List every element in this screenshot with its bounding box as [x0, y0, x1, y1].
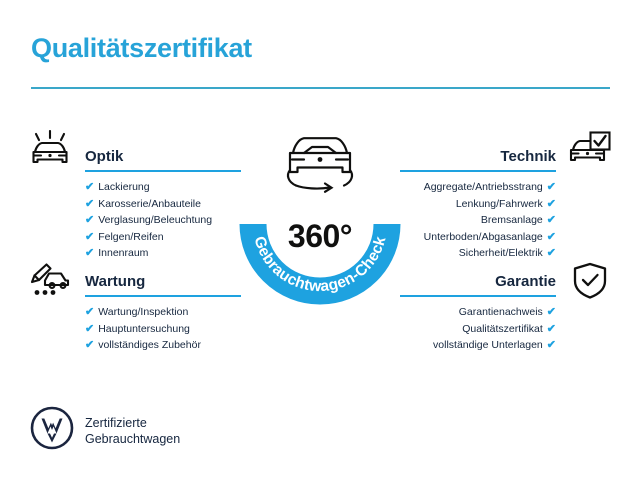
list-item: Garantienachweis✔ — [400, 304, 556, 321]
check-icon: ✔ — [547, 231, 556, 243]
check-icon: ✔ — [547, 181, 556, 193]
section-header-garantie: Garantie — [400, 268, 556, 298]
list-item: Sicherheit/Elektrik✔ — [400, 245, 556, 262]
list-item: ✔Innenraum — [85, 245, 241, 262]
list-item: Unterboden/Abgasanlage✔ — [400, 229, 556, 246]
car-checkbox-icon — [568, 130, 612, 175]
check-icon: ✔ — [85, 339, 94, 351]
check-icon: ✔ — [547, 247, 556, 259]
list-item-label: Bremsanlage — [481, 214, 543, 226]
check-icon: ✔ — [85, 323, 94, 335]
list-item: Qualitätszertifikat✔ — [400, 321, 556, 338]
shield-check-icon — [572, 262, 608, 305]
list-item-label: Unterboden/Abgasanlage — [424, 231, 543, 243]
section-title-technik: Technik — [500, 148, 556, 165]
check-icon: ✔ — [547, 339, 556, 351]
list-item-label: Verglasung/Beleuchtung — [98, 214, 212, 226]
check-icon: ✔ — [547, 214, 556, 226]
list-item: Aggregate/Antriebsstrang✔ — [400, 179, 556, 196]
section-title-wartung: Wartung — [85, 273, 145, 290]
car-service-pen-icon — [28, 262, 72, 303]
check-icon: ✔ — [547, 198, 556, 210]
check-icon: ✔ — [85, 181, 94, 193]
list-item-label: Aggregate/Antriebsstrang — [424, 181, 543, 193]
list-item: ✔Karosserie/Anbauteile — [85, 196, 241, 213]
footer-brand: ZertifizierteGebrauchtwagen — [30, 406, 180, 455]
check-icon: ✔ — [85, 198, 94, 210]
list-item: ✔Felgen/Reifen — [85, 229, 241, 246]
list-item-label: Wartung/Inspektion — [98, 306, 188, 318]
vw-logo-icon — [30, 406, 74, 455]
list-item: ✔Verglasung/Beleuchtung — [85, 212, 241, 229]
list-item: Bremsanlage✔ — [400, 212, 556, 229]
section-header-optik: Optik — [85, 143, 241, 173]
list-item-label: Qualitätszertifikat — [462, 323, 543, 335]
list-item-label: Lenkung/Fahrwerk — [456, 198, 543, 210]
section-garantie: Garantie Garantienachweis✔ Qualitätszert… — [400, 268, 556, 354]
list-item: ✔Hauptuntersuchung — [85, 321, 241, 338]
check-icon: ✔ — [85, 247, 94, 259]
badge-360-gebrauchtwagen-check: Gebrauchtwagen-Check — [232, 121, 408, 311]
checklist-technik: Aggregate/Antriebsstrang✔ Lenkung/Fahrwe… — [400, 179, 556, 262]
checklist-wartung: ✔Wartung/Inspektion ✔Hauptuntersuchung ✔… — [85, 304, 241, 354]
check-icon: ✔ — [85, 231, 94, 243]
list-item-label: vollständige Unterlagen — [433, 339, 543, 351]
list-item-label: Sicherheit/Elektrik — [459, 247, 543, 259]
footer-line-2: Gebrauchtwagen — [85, 432, 180, 446]
list-item-label: vollständiges Zubehör — [98, 339, 201, 351]
section-divider-garantie — [400, 295, 556, 297]
section-divider-optik — [85, 170, 241, 172]
check-icon: ✔ — [85, 306, 94, 318]
check-icon: ✔ — [85, 214, 94, 226]
list-item-label: Hauptuntersuchung — [98, 323, 190, 335]
checklist-garantie: Garantienachweis✔ Qualitätszertifikat✔ v… — [400, 304, 556, 354]
section-wartung: Wartung ✔Wartung/Inspektion ✔Hauptunters… — [85, 268, 241, 354]
list-item-label: Garantienachweis — [459, 306, 543, 318]
list-item: vollständige Unterlagen✔ — [400, 337, 556, 354]
list-item: ✔Lackierung — [85, 179, 241, 196]
list-item-label: Lackierung — [98, 181, 149, 193]
certificate-page: Qualitätszertifikat — [0, 0, 640, 480]
list-item-label: Karosserie/Anbauteile — [98, 198, 201, 210]
footer-brand-label: ZertifizierteGebrauchtwagen — [85, 415, 180, 447]
list-item-label: Felgen/Reifen — [98, 231, 163, 243]
checklist-optik: ✔Lackierung ✔Karosserie/Anbauteile ✔Verg… — [85, 179, 241, 262]
section-header-technik: Technik — [400, 143, 556, 173]
section-title-optik: Optik — [85, 148, 123, 165]
section-header-wartung: Wartung — [85, 268, 241, 298]
list-item: ✔vollständiges Zubehör — [85, 337, 241, 354]
section-optik: Optik ✔Lackierung ✔Karosserie/Anbauteile… — [85, 143, 241, 262]
list-item: Lenkung/Fahrwerk✔ — [400, 196, 556, 213]
section-divider-wartung — [85, 295, 241, 297]
page-title: Qualitätszertifikat — [31, 33, 252, 64]
check-icon: ✔ — [547, 323, 556, 335]
car-shine-icon — [28, 130, 72, 175]
footer-line-1: Zertifizierte — [85, 416, 147, 430]
list-item-label: Innenraum — [98, 247, 148, 259]
title-divider — [31, 87, 610, 89]
section-divider-technik — [400, 170, 556, 172]
section-title-garantie: Garantie — [495, 273, 556, 290]
list-item: ✔Wartung/Inspektion — [85, 304, 241, 321]
section-technik: Technik Aggregate/Antriebsstrang✔ Lenkun… — [400, 143, 556, 262]
check-icon: ✔ — [547, 306, 556, 318]
